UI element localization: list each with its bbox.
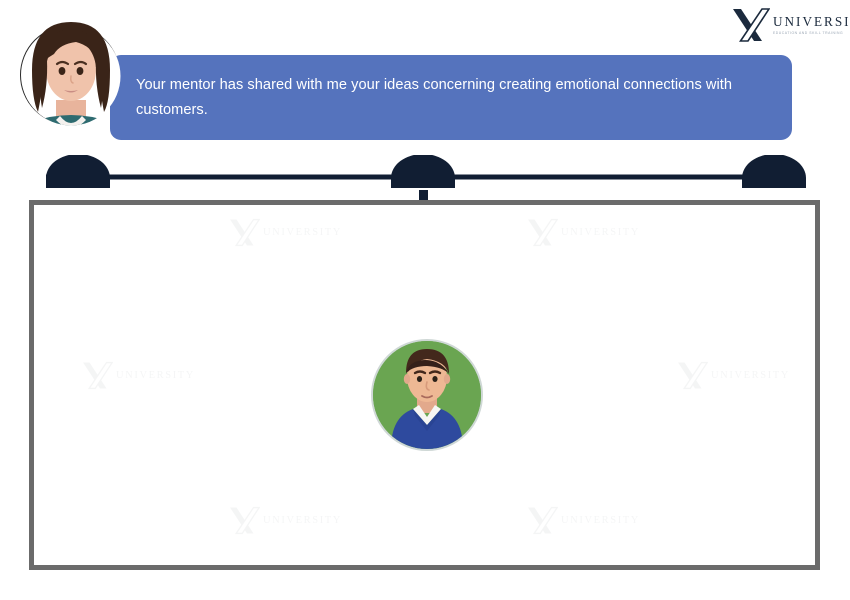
watermark-text: UNIVERSITY (263, 227, 342, 238)
xc-monogram-icon (79, 360, 113, 391)
watermark-text: UNIVERSITY (561, 227, 640, 238)
xc-monogram-icon (524, 505, 558, 536)
brand-tagline: EDUCATION AND SKILL TRAINING (773, 31, 850, 35)
watermark: UNIVERSITY (79, 360, 195, 391)
watermark: UNIVERSITY (226, 505, 342, 536)
male-learner-avatar-art (373, 341, 481, 449)
content-frame: UNIVERSITY UNIVERSITY UNIVERSITY (29, 200, 820, 570)
watermark-text: UNIVERSITY (116, 370, 195, 381)
xc-monogram-icon (226, 217, 260, 248)
xc-monogram-icon (226, 505, 260, 536)
xc-monogram-icon (524, 217, 558, 248)
watermark: UNIVERSITY (674, 360, 790, 391)
timeline-marker-end[interactable] (742, 155, 806, 188)
watermark-text: UNIVERSITY (263, 515, 342, 526)
timeline-marker-current[interactable] (391, 155, 455, 188)
watermark-text: UNIVERSITY (711, 370, 790, 381)
female-mentor-avatar (20, 25, 120, 125)
watermark: UNIVERSITY (524, 505, 640, 536)
brand-wordmark: UNIVERSITY EDUCATION AND SKILL TRAINING (773, 15, 850, 35)
male-learner-avatar (371, 339, 483, 451)
xc-monogram-icon (674, 360, 708, 391)
watermark: UNIVERSITY (524, 217, 640, 248)
speech-bubble-text: Your mentor has shared with me your idea… (110, 73, 792, 121)
brand-logo: UNIVERSITY EDUCATION AND SKILL TRAINING (728, 6, 846, 44)
timeline-marker-start[interactable] (46, 155, 110, 188)
speech-bubble: Your mentor has shared with me your idea… (110, 55, 792, 140)
watermark-text: UNIVERSITY (561, 515, 640, 526)
xc-monogram-icon (728, 6, 770, 44)
brand-name: UNIVERSITY (773, 15, 850, 28)
progress-timeline[interactable] (0, 155, 850, 205)
watermark: UNIVERSITY (226, 217, 342, 248)
slide-stage: UNIVERSITY EDUCATION AND SKILL TRAINING … (0, 0, 850, 600)
female-mentor-avatar-art (12, 8, 130, 138)
